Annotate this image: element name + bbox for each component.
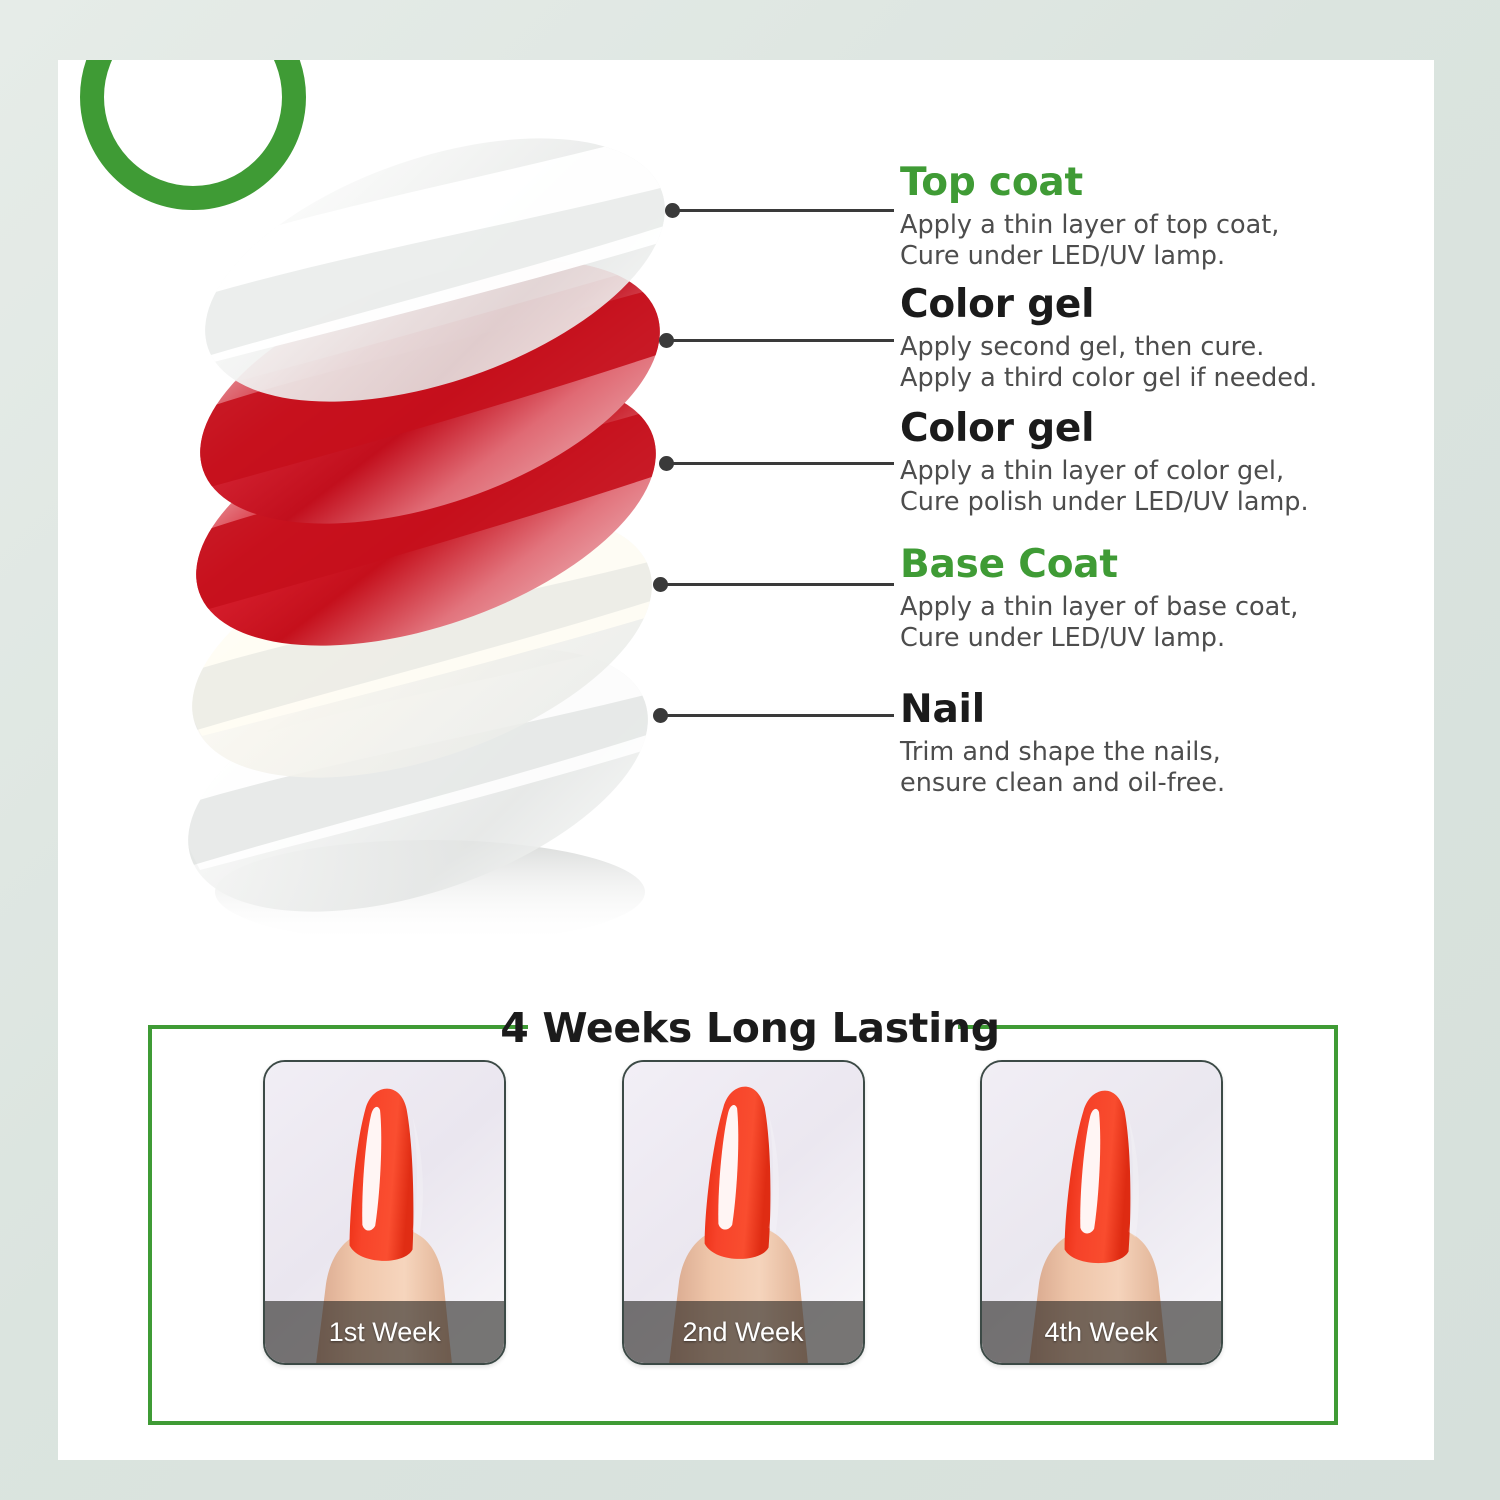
longevity-card[interactable]: 1st Week [263, 1060, 506, 1365]
layer-description-line: Apply a third color gel if needed. [900, 363, 1317, 394]
longevity-card[interactable]: 2nd Week [622, 1060, 865, 1365]
longevity-card-label-band: 4th Week [982, 1301, 1221, 1363]
layer-title: Base Coat [900, 545, 1298, 586]
longevity-card[interactable]: 4th Week [980, 1060, 1223, 1365]
layer-title: Nail [900, 690, 1225, 731]
layer-description: Trim and shape the nails, ensure clean a… [900, 737, 1225, 799]
layer-description-line: Apply a thin layer of color gel, [900, 456, 1309, 487]
layer-description: Apply a thin layer of color gel, Cure po… [900, 456, 1309, 518]
nail-layer-stack-illustration [180, 80, 800, 970]
layer-title: Color gel [900, 285, 1317, 326]
layer-description-line: ensure clean and oil-free. [900, 768, 1225, 799]
layer-description-line: Apply a thin layer of base coat, [900, 592, 1298, 623]
longevity-card-label: 1st Week [329, 1317, 441, 1348]
layer-description: Apply a thin layer of base coat, Cure un… [900, 592, 1298, 654]
longevity-card-label-band: 1st Week [265, 1301, 504, 1363]
layer-info-color-gel-second: Color gel Apply second gel, then cure. A… [900, 285, 1317, 394]
layer-title: Top coat [900, 163, 1279, 204]
longevity-card-label-band: 2nd Week [624, 1301, 863, 1363]
longevity-card-label: 2nd Week [682, 1317, 803, 1348]
layer-description-line: Apply second gel, then cure. [900, 332, 1317, 363]
longevity-card-label: 4th Week [1044, 1317, 1158, 1348]
layer-description-line: Apply a thin layer of top coat, [900, 210, 1279, 241]
longevity-card-list: 1st Week [148, 1060, 1338, 1400]
layer-title: Color gel [900, 409, 1309, 450]
layer-description-line: Cure polish under LED/UV lamp. [900, 487, 1309, 518]
layer-info-nail: Nail Trim and shape the nails, ensure cl… [900, 690, 1225, 799]
layer-info-color-gel-first: Color gel Apply a thin layer of color ge… [900, 409, 1309, 518]
layer-description-line: Cure under LED/UV lamp. [900, 241, 1279, 272]
layer-info-base-coat: Base Coat Apply a thin layer of base coa… [900, 545, 1298, 654]
layer-description: Apply second gel, then cure. Apply a thi… [900, 332, 1317, 394]
layer-info-top-coat: Top coat Apply a thin layer of top coat,… [900, 163, 1279, 272]
layer-description-line: Cure under LED/UV lamp. [900, 623, 1298, 654]
longevity-title: 4 Weeks Long Lasting [0, 1004, 1500, 1052]
layer-description: Apply a thin layer of top coat, Cure und… [900, 210, 1279, 272]
layer-description-line: Trim and shape the nails, [900, 737, 1225, 768]
infographic-root: Top coat Apply a thin layer of top coat,… [0, 0, 1500, 1500]
